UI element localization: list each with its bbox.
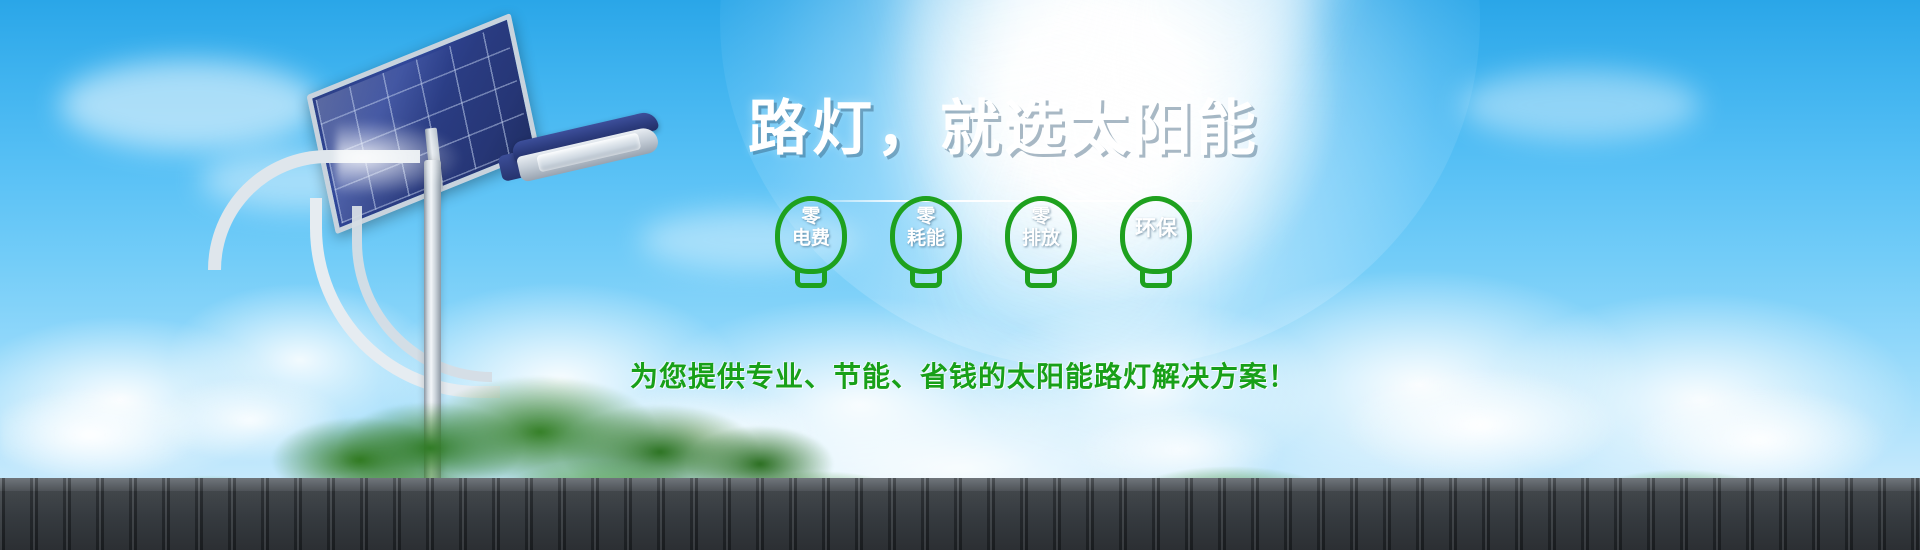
lightbulb-base-icon — [795, 268, 827, 288]
badge-text-label: 电费 — [792, 227, 830, 249]
cloud-wisp-1 — [60, 60, 320, 150]
badge-zero-label: 零 — [801, 205, 820, 227]
page-title: 路灯，就选太阳能 — [748, 96, 1218, 164]
lightbulb-base-icon — [1025, 268, 1057, 288]
feature-badge-electricity: 零 电费 — [770, 196, 852, 292]
lightbulb-base-icon — [910, 268, 942, 288]
feature-badge-list: 零 电费 零 耗能 零 排放 环保 — [770, 196, 1210, 292]
banner-tagline: 为您提供专业、节能、省钱的太阳能路灯解决方案！ — [630, 360, 1210, 394]
street-lamp-head-icon — [511, 110, 666, 188]
badge-zero-label: 零 — [916, 205, 935, 227]
solar-streetlight-banner: 路灯，就选太阳能 零 电费 零 耗能 零 排放 — [0, 0, 1920, 550]
badge-text-label: 耗能 — [907, 227, 945, 249]
roof-tiles — [0, 478, 1920, 550]
solar-street-lamp — [300, 0, 720, 550]
feature-badge-consumption: 零 耗能 — [885, 196, 967, 292]
tree-canopy — [0, 328, 1920, 498]
feature-badge-eco: 环保 — [1115, 196, 1197, 292]
badge-text-label: 排放 — [1022, 227, 1060, 249]
cloud-wisp-3 — [1460, 70, 1700, 140]
lightbulb-base-icon — [1140, 268, 1172, 288]
sun-glow-icon — [720, 0, 1480, 370]
badge-zero-label: 零 — [1031, 205, 1050, 227]
badge-text-label: 环保 — [1135, 216, 1177, 240]
feature-badge-emission: 零 排放 — [1000, 196, 1082, 292]
